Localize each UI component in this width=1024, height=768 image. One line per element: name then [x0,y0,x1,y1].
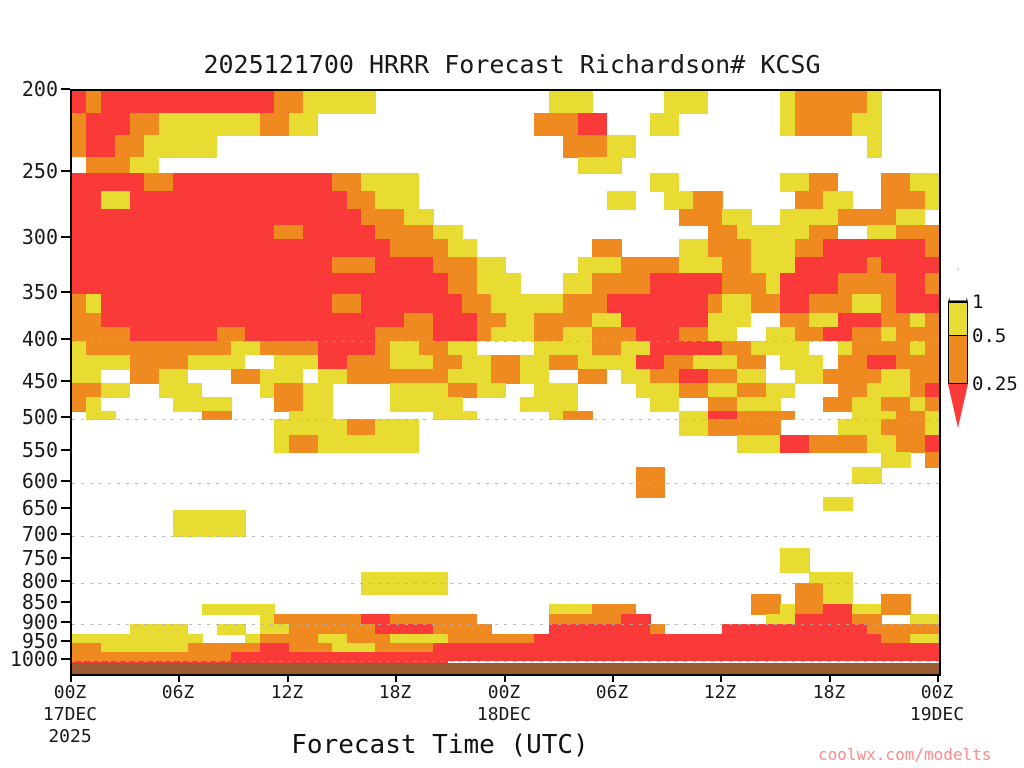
heatmap-cell [809,341,824,356]
heatmap-cell [823,239,838,258]
heatmap-cell [578,411,593,420]
heatmap-cell [390,209,405,226]
heatmap-cell [520,369,535,384]
heatmap-cell [462,411,477,420]
heatmap-cell [896,355,911,370]
heatmap-cell [245,257,260,274]
x-axis-tick-label: 00Z19DEC [910,682,964,726]
heatmap-cell [419,294,434,314]
heatmap-cell [766,419,781,436]
heatmap-cell [318,624,333,635]
heatmap-cell [563,355,578,370]
heatmap-cell [737,383,752,398]
heatmap-cell [289,614,304,625]
heatmap-cell [303,383,318,398]
heatmap-cell [101,91,116,114]
heatmap-cell [708,294,723,314]
heatmap-cell [72,397,87,412]
y-axis-tick-mark [61,621,70,623]
heatmap-cell [607,327,622,342]
y-axis-tick-label: 200 [0,77,58,101]
heatmap-cell [173,135,188,158]
heatmap-cell [751,624,766,635]
heatmap-cell [202,294,217,314]
heatmap-cell [592,239,607,258]
y-axis-tick-mark [61,416,70,418]
heatmap-cell [318,257,333,274]
y-axis-tick-label: 350 [0,280,58,304]
heatmap-cell [809,572,824,584]
heatmap-cell [679,341,694,356]
heatmap-cell [404,257,419,274]
heatmap-cell [809,239,824,258]
heatmap-cell [274,435,289,453]
heatmap-cell [159,135,174,158]
heatmap-cell [318,369,333,384]
heatmap-cell [433,614,448,625]
heatmap-cell [650,327,665,342]
heatmap-cell [838,113,853,136]
heatmap-cell [404,419,419,436]
heatmap-cell [621,327,636,342]
heatmap-cell [202,191,217,210]
heatmap-cell [881,173,896,192]
heatmap-cell [520,341,535,356]
heatmap-cell [101,173,116,192]
colorbar[interactable]: 10.50.25 [948,302,968,470]
heatmap-cell [737,209,752,226]
heatmap-cell [852,327,867,342]
heatmap-cell [375,369,390,384]
heatmap-cell [86,411,101,420]
heatmap-cell [202,327,217,342]
heatmap-cell [621,614,636,625]
y-axis-tick-mark [61,507,70,509]
y-axis-tick-mark [61,291,70,293]
colorbar-segment[interactable] [948,302,968,336]
heatmap-cell [375,209,390,226]
heatmap-cell [144,225,159,240]
heatmap-cell [347,209,362,226]
heatmap-cell [780,294,795,314]
heatmap-cell [549,294,564,314]
heatmap-cell [130,91,145,114]
heatmap-cell [130,135,145,158]
heatmap-cell [737,327,752,342]
heatmap-cell [188,173,203,192]
heatmap-cell [766,604,781,615]
heatmap-cell [130,624,145,635]
heatmap-cell [592,341,607,356]
heatmap-cell [636,313,651,328]
heatmap-cell [404,572,419,584]
heatmap-cell [72,257,87,274]
heatmap-cell [534,355,549,370]
heatmap-cell [347,369,362,384]
heatmap-cell [910,614,925,625]
heatmap-cell [303,355,318,370]
heatmap-cell [607,135,622,158]
heatmap-cell [563,614,578,625]
heatmap-cell [867,369,882,384]
heatmap-cell [780,614,795,625]
heatmap-cell [419,397,434,412]
heatmap-cell [245,273,260,295]
heatmap-cell [592,604,607,615]
heatmap-cell [838,572,853,584]
heatmap-cell [607,157,622,174]
x-axis-tick-label: 18Z [379,682,412,704]
heatmap-cell [737,435,752,453]
heatmap-cell [896,257,911,274]
heatmap-plot-area [70,89,941,676]
heatmap-cell [448,411,463,420]
heatmap-cell [867,135,882,158]
heatmap-cell [766,624,781,635]
heatmap-cell [578,313,593,328]
heatmap-cell [245,355,260,370]
heatmap-cell [289,419,304,436]
heatmap-cell [737,369,752,384]
heatmap-cell [115,341,130,356]
heatmap-cell [722,341,737,356]
heatmap-cell [274,313,289,328]
heatmap-cell [260,113,275,136]
heatmap-cell [159,173,174,192]
heatmap-cell [419,257,434,274]
heatmap-cell [679,355,694,370]
heatmap-cell [188,225,203,240]
heatmap-cell [896,435,911,453]
heatmap-cell [332,313,347,328]
heatmap-cell [506,341,521,356]
heatmap-cell [404,614,419,625]
heatmap-cell [390,313,405,328]
heatmap-cell [217,341,232,356]
heatmap-cell [260,209,275,226]
heatmap-cell [838,91,853,114]
heatmap-cell [361,273,376,295]
heatmap-cell [217,239,232,258]
heatmap-cell [693,257,708,274]
heatmap-cell [72,209,87,226]
heatmap-cell [751,313,766,328]
heatmap-cell [896,397,911,412]
heatmap-cell [217,225,232,240]
heatmap-cell [289,341,304,356]
heatmap-cell [477,341,492,356]
heatmap-cell [867,257,882,274]
heatmap-cell [217,327,232,342]
heatmap-cell [780,239,795,258]
heatmap-cell [838,341,853,356]
heatmap-cell [115,209,130,226]
heatmap-cell [433,257,448,274]
heatmap-cell [260,341,275,356]
heatmap-cell [881,341,896,356]
y-axis-tick-mark [61,658,70,660]
heatmap-cell [563,91,578,114]
heatmap-cell [202,225,217,240]
colorbar-under-arrow [948,384,968,428]
heatmap-cell [477,369,492,384]
heatmap-cell [592,624,607,635]
heatmap-cell [188,135,203,158]
heatmap-cell [852,313,867,328]
heatmap-cell [86,294,101,314]
heatmap-cell [737,341,752,356]
heatmap-cell [737,225,752,240]
heatmap-cell [303,191,318,210]
heatmap-cell [289,239,304,258]
heatmap-cell [231,273,246,295]
heatmap-cell [390,419,405,436]
heatmap-cell [390,191,405,210]
heatmap-cell [72,239,87,258]
heatmap-cell [737,257,752,274]
heatmap-cell [607,355,622,370]
heatmap-cell [693,369,708,384]
x-axis-tick-mark [70,674,72,682]
heatmap-cell [722,294,737,314]
heatmap-cell [448,239,463,258]
heatmap-cell [607,294,622,314]
heatmap-cell [101,341,116,356]
heatmap-cell [318,209,333,226]
heatmap-cell [217,209,232,226]
heatmap-cell [390,294,405,314]
heatmap-cell [896,369,911,384]
heatmap-cell [332,173,347,192]
heatmap-cell [766,225,781,240]
heatmap-cell [881,313,896,328]
heatmap-cell [260,91,275,114]
heatmap-cell [130,313,145,328]
heatmap-cell [448,614,463,625]
heatmap-cell [231,604,246,615]
heatmap-cell [621,369,636,384]
heatmap-cell [144,294,159,314]
heatmap-cell [563,113,578,136]
heatmap-cell [433,225,448,240]
heatmap-cell [809,225,824,240]
heatmap-cell [910,257,925,274]
heatmap-cell [491,327,506,342]
heatmap-cell [274,91,289,114]
heatmap-cell [72,135,87,158]
heatmap-cell [188,273,203,295]
heatmap-cell [86,157,101,174]
heatmap-cell [130,341,145,356]
heatmap-cell [115,327,130,342]
heatmap-cell [144,239,159,258]
heatmap-cell [101,113,116,136]
heatmap-cell [188,113,203,136]
heatmap-cell [881,239,896,258]
heatmap-cell [766,327,781,342]
heatmap-cell [780,91,795,114]
heatmap-cell [448,313,463,328]
page-title: 2025121700 HRRR Forecast Richardson# KCS… [0,50,1024,79]
heatmap-cell [390,257,405,274]
heatmap-cell [159,369,174,384]
heatmap-cell [636,467,651,484]
heatmap-cell [188,327,203,342]
heatmap-cell [260,313,275,328]
heatmap-cell [462,239,477,258]
heatmap-cell [274,369,289,384]
heatmap-cell [144,113,159,136]
heatmap-cell [72,369,87,384]
heatmap-cell [318,435,333,453]
heatmap-cell [823,604,838,615]
x-axis-tick-label: 00Z18DEC [477,682,531,726]
heatmap-cell [477,257,492,274]
heatmap-cell [347,341,362,356]
heatmap-cell [592,157,607,174]
heatmap-cell [361,239,376,258]
heatmap-cell [809,594,824,605]
colorbar-tick-label: 1 [972,291,983,313]
heatmap-cell [780,327,795,342]
heatmap-cell [867,397,882,412]
heatmap-cell [72,91,87,114]
heatmap-cell [477,624,492,635]
heatmap-cell [101,239,116,258]
heatmap-cell [823,313,838,328]
heatmap-cell [621,294,636,314]
heatmap-cell [722,369,737,384]
heatmap-cell [708,313,723,328]
heatmap-cell [173,173,188,192]
heatmap-cell [231,624,246,635]
heatmap-cell [506,327,521,342]
heatmap-cell [72,313,87,328]
heatmap-cell [867,239,882,258]
heatmap-cell [636,341,651,356]
heatmap-cell [708,225,723,240]
heatmap-cell [318,273,333,295]
heatmap-cell [780,355,795,370]
heatmap-cell [86,327,101,342]
heatmap-cell [823,273,838,295]
heatmap-cell [217,113,232,136]
heatmap-cell [144,257,159,274]
heatmap-cell [144,624,159,635]
heatmap-cell [679,383,694,398]
heatmap-cell [289,257,304,274]
heatmap-cell [925,273,939,295]
heatmap-cell [534,327,549,342]
colorbar-segment[interactable] [948,336,968,384]
heatmap-cell [245,173,260,192]
heatmap-cell [86,113,101,136]
heatmap-cell [260,624,275,635]
heatmap-cell [896,273,911,295]
heatmap-cell [795,341,810,356]
heatmap-cell [693,355,708,370]
heatmap-cell [578,257,593,274]
heatmap-cell [390,583,405,595]
heatmap-cell [173,225,188,240]
heatmap-cell [130,225,145,240]
heatmap-cell [86,173,101,192]
heatmap-cell [318,383,333,398]
heatmap-cell [867,341,882,356]
heatmap-cell [245,191,260,210]
heatmap-cell [693,191,708,210]
heatmap-cell [202,135,217,158]
heatmap-cell [607,614,622,625]
heatmap-cell [361,313,376,328]
heatmap-cell [173,209,188,226]
heatmap-cell [838,419,853,436]
heatmap-cell [925,239,939,258]
heatmap-cell [202,411,217,420]
heatmap-cell [188,523,203,537]
x-axis-tick-mark [287,674,289,682]
heatmap-cell [217,604,232,615]
heatmap-cell [881,435,896,453]
heatmap-cell [896,594,911,605]
heatmap-cell [650,355,665,370]
heatmap-cell [72,173,87,192]
heatmap-cell [852,435,867,453]
heatmap-cell [867,467,882,484]
heatmap-cell [823,624,838,635]
heatmap-cell [419,209,434,226]
heatmap-cell [433,369,448,384]
heatmap-cell [462,294,477,314]
y-axis-tick-label: 650 [0,496,58,520]
heatmap-cell [159,355,174,370]
heatmap-cell [318,173,333,192]
heatmap-cell [910,313,925,328]
heatmap-cell [636,294,651,314]
heatmap-cell [101,294,116,314]
heatmap-cell [274,273,289,295]
heatmap-cell [347,191,362,210]
heatmap-cell [607,624,622,635]
heatmap-cell [274,355,289,370]
y-axis-tick-mark [61,640,70,642]
heatmap-cell [375,225,390,240]
heatmap-cell [173,313,188,328]
heatmap-cell [852,397,867,412]
heatmap-cell [159,624,174,635]
heatmap-cell [332,624,347,635]
heatmap-cell [303,397,318,412]
heatmap-cell [433,397,448,412]
heatmap-cell [867,327,882,342]
heatmap-cell [448,355,463,370]
y-axis-tick-label: 750 [0,546,58,570]
heatmap-cell [101,327,116,342]
heatmap-cell [260,614,275,625]
heatmap-cell [506,369,521,384]
heatmap-cell [910,191,925,210]
heatmap-cell [722,313,737,328]
heatmap-cell [274,397,289,412]
heatmap-cell [852,91,867,114]
heatmap-cell [896,624,911,635]
heatmap-cell [188,91,203,114]
heatmap-cell [332,355,347,370]
heatmap-cell [173,294,188,314]
heatmap-cell [173,510,188,524]
heatmap-cell [347,327,362,342]
heatmap-cell [159,257,174,274]
